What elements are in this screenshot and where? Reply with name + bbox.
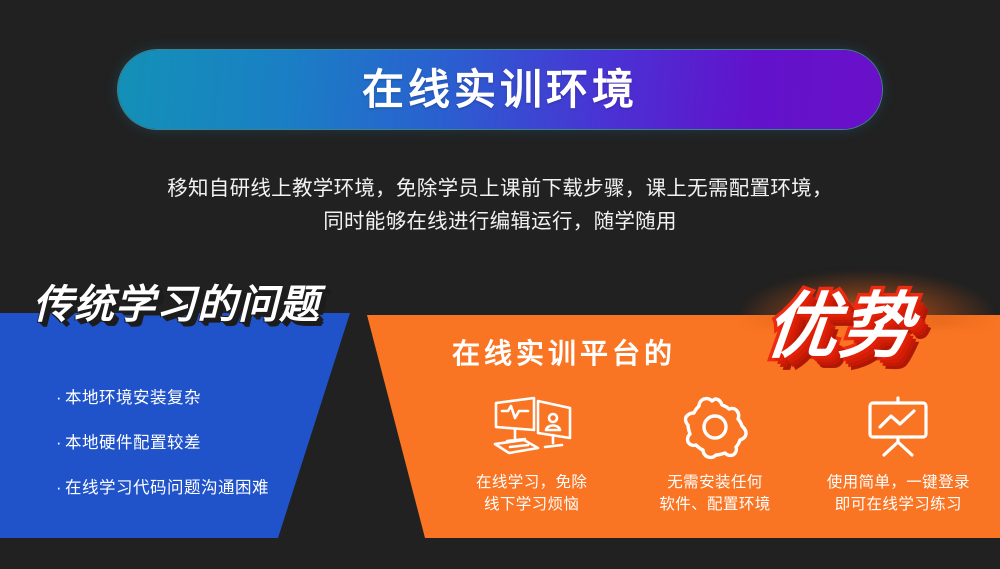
bullet-glyph: · bbox=[56, 389, 62, 407]
feature-column-1: 在线学习，免除 线下学习烦恼 bbox=[440, 392, 623, 516]
problem-item-label: 本地硬件配置较差 bbox=[65, 434, 201, 452]
advantages-heading-accent: 优势 bbox=[762, 291, 918, 363]
subtitle-line-2: 同时能够在线进行编辑运行，随学随用 bbox=[50, 205, 950, 238]
subtitle-line-1: 移知自研线上教学环境，免除学员上课前下载步骤，课上无需配置环境， bbox=[50, 172, 950, 205]
problems-heading: 传统学习的问题 bbox=[33, 285, 320, 325]
feature-caption-line-1: 无需安装任何 bbox=[659, 472, 770, 494]
advantages-heading: 在线实训平台的 bbox=[452, 340, 676, 368]
feature-caption-line-1: 使用简单，一键登录 bbox=[827, 472, 970, 494]
bullet-glyph: · bbox=[56, 479, 62, 497]
page-title-banner: 在线实训环境 bbox=[118, 50, 882, 129]
features-row: 在线学习，免除 线下学习烦恼 无需安装任何 软件、配置环境 bbox=[440, 392, 990, 537]
dual-monitor-workstation-icon bbox=[482, 392, 582, 462]
advantages-heading-lead: 在线实训平台的 bbox=[452, 340, 676, 368]
problems-list: ·本地环境安装复杂 ·本地硬件配置较差 ·在线学习代码问题沟通困难 bbox=[0, 313, 360, 538]
feature-caption-line-2: 软件、配置环境 bbox=[659, 494, 770, 516]
feature-caption: 使用简单，一键登录 即可在线学习练习 bbox=[827, 472, 970, 516]
problem-list-item: ·在线学习代码问题沟通困难 bbox=[56, 474, 269, 498]
problem-item-label: 本地环境安装复杂 bbox=[65, 389, 201, 407]
feature-caption-line-2: 线下学习烦恼 bbox=[476, 494, 587, 516]
page-title: 在线实训环境 bbox=[362, 69, 638, 111]
problem-list-item: ·本地环境安装复杂 bbox=[56, 384, 201, 408]
feature-caption: 在线学习，免除 线下学习烦恼 bbox=[476, 472, 587, 516]
bullet-glyph: · bbox=[56, 434, 62, 452]
feature-caption-line-1: 在线学习，免除 bbox=[476, 472, 587, 494]
problem-list-item: ·本地硬件配置较差 bbox=[56, 429, 201, 453]
subtitle-text: 移知自研线上教学环境，免除学员上课前下载步骤，课上无需配置环境， 同时能够在线进… bbox=[50, 172, 950, 238]
gear-icon bbox=[682, 392, 748, 462]
feature-caption-line-2: 即可在线学习练习 bbox=[827, 494, 970, 516]
feature-column-3: 使用简单，一键登录 即可在线学习练习 bbox=[807, 392, 990, 516]
promo-banner-stage: 在线实训环境 移知自研线上教学环境，免除学员上课前下载步骤，课上无需配置环境， … bbox=[0, 0, 1000, 569]
feature-column-2: 无需安装任何 软件、配置环境 bbox=[623, 392, 806, 516]
presentation-chart-board-icon bbox=[862, 392, 934, 462]
problem-item-label: 在线学习代码问题沟通困难 bbox=[65, 479, 269, 497]
advantages-heading-accent-wrap: 优势 bbox=[756, 285, 996, 385]
feature-caption: 无需安装任何 软件、配置环境 bbox=[659, 472, 770, 516]
